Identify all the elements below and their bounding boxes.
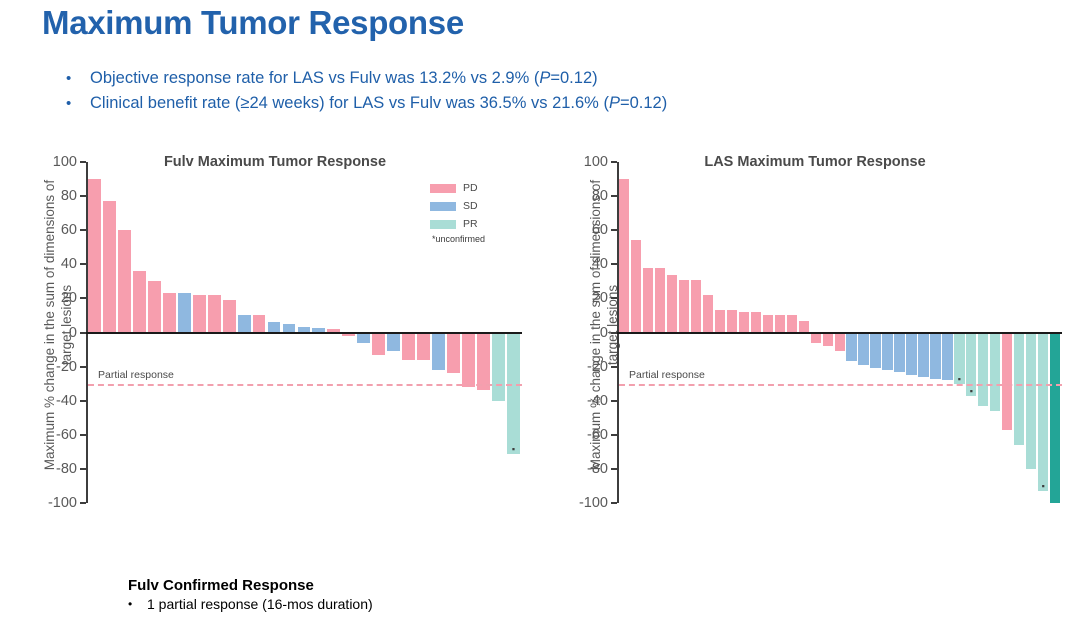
bar-pr	[990, 333, 1000, 411]
plot-area-las: ▪▪▪ 100806040200-20-40-60-80-100Partial …	[617, 162, 1062, 503]
bar-sd	[846, 333, 856, 362]
y-axis-tick-label: 80	[61, 188, 77, 204]
bar-pd	[88, 179, 101, 332]
legend-entry-label: PR	[463, 218, 478, 230]
y-axis-tick	[611, 263, 617, 265]
bar-pr	[1014, 333, 1024, 446]
y-axis-tick	[611, 502, 617, 504]
y-axis-tick	[80, 468, 86, 470]
y-axis-tick-label: 40	[61, 256, 77, 272]
y-axis-tick	[611, 161, 617, 163]
y-axis-tick-label: -60	[56, 427, 77, 443]
legend-entry-sd: SD	[430, 198, 485, 214]
zero-baseline	[86, 332, 522, 334]
bar-pd	[619, 179, 629, 332]
callout-list-item: • 1 partial response (16-mos duration)	[128, 595, 373, 614]
zero-baseline	[617, 332, 1062, 334]
y-axis-tick-label: 100	[584, 154, 608, 170]
legend-swatch-icon	[430, 220, 456, 229]
legend-unconfirmed-note: *unconfirmed	[432, 234, 485, 244]
bullet-marker-icon: •	[128, 595, 147, 614]
bar-pd	[691, 280, 701, 333]
bar-pd	[402, 333, 415, 360]
header-bullet-item: • Clinical benefit rate (≥24 weeks) for …	[66, 91, 1006, 116]
bar-sd	[238, 315, 251, 332]
bullet-marker-icon: •	[66, 91, 90, 116]
y-axis-tick	[611, 195, 617, 197]
bar-pd	[655, 268, 665, 333]
partial-response-threshold-label: Partial response	[98, 369, 174, 381]
bar-pd	[193, 295, 206, 333]
bar-pd	[631, 240, 641, 332]
bar-pd	[118, 230, 131, 332]
unconfirmed-asterisk-icon: ▪	[970, 388, 973, 394]
callout-item-text: 1 partial response (16-mos duration)	[147, 595, 373, 614]
y-axis-tick	[611, 468, 617, 470]
bar-pd	[775, 315, 785, 332]
chart-legend-fulv: PDSDPR*unconfirmed	[430, 180, 485, 244]
bar-pr: ▪	[1038, 333, 1048, 492]
bar-pr: ▪	[507, 333, 520, 454]
bar-pd	[751, 312, 761, 332]
bar-pd	[1002, 333, 1012, 430]
bar-pr	[1026, 333, 1036, 469]
y-axis-tick-label: -40	[587, 393, 608, 409]
y-axis-tick	[80, 161, 86, 163]
bar-sd	[387, 333, 400, 352]
bar-pd	[133, 271, 146, 332]
bar-pr	[492, 333, 505, 401]
y-axis-tick	[80, 434, 86, 436]
bar-pd	[208, 295, 221, 333]
y-axis-tick	[80, 297, 86, 299]
y-axis-tick-label: 40	[592, 256, 608, 272]
unconfirmed-asterisk-icon: ▪	[958, 376, 961, 382]
y-axis-tick-label: -100	[579, 495, 608, 511]
y-axis-tick	[80, 229, 86, 231]
y-axis-tick-label: 60	[61, 222, 77, 238]
legend-swatch-icon	[430, 202, 456, 211]
y-axis-tick	[611, 434, 617, 436]
y-axis-tick-label: 80	[592, 188, 608, 204]
y-axis-tick-label: -20	[56, 359, 77, 375]
bar-pd	[477, 333, 490, 391]
partial-response-threshold-line	[88, 384, 522, 386]
bar-pd	[823, 333, 833, 347]
header-bullet-item: • Objective response rate for LAS vs Ful…	[66, 66, 1006, 91]
bar-pd	[643, 268, 653, 333]
bar-pd	[447, 333, 460, 374]
bar-sd	[178, 293, 191, 332]
y-axis-tick	[80, 366, 86, 368]
partial-response-threshold-label: Partial response	[629, 369, 705, 381]
y-axis-tick-label: 0	[600, 325, 608, 341]
callout-fulv: Fulv Confirmed Response • 1 partial resp…	[128, 576, 373, 614]
bar-pd	[835, 333, 845, 352]
partial-response-threshold-line	[619, 384, 1062, 386]
y-axis-tick	[611, 297, 617, 299]
bar-sd	[858, 333, 868, 365]
bar-sd	[906, 333, 916, 376]
bar-pd	[703, 295, 713, 333]
y-axis-tick	[611, 229, 617, 231]
bar-pd	[372, 333, 385, 355]
bar-pd	[253, 315, 266, 332]
bar-pd	[417, 333, 430, 360]
bar-sd	[918, 333, 928, 377]
legend-entry-label: PD	[463, 182, 478, 194]
y-axis-tick-label: 0	[69, 325, 77, 341]
bar-pr: ▪	[966, 333, 976, 396]
y-axis-tick	[80, 195, 86, 197]
y-axis-tick	[80, 263, 86, 265]
legend-swatch-icon	[430, 184, 456, 193]
bar-pd	[223, 300, 236, 332]
y-axis-tick	[80, 502, 86, 504]
bar-pd	[148, 281, 161, 332]
y-axis-tick-label: 60	[592, 222, 608, 238]
bar-cr	[1050, 333, 1060, 504]
chart-panel-las: LAS Maximum Tumor Response Maximum % cha…	[540, 148, 1080, 533]
y-axis-tick	[80, 400, 86, 402]
bar-sd	[870, 333, 880, 369]
y-axis-tick-label: -40	[56, 393, 77, 409]
bar-pd	[679, 280, 689, 333]
bar-pd	[715, 310, 725, 332]
unconfirmed-asterisk-icon: ▪	[512, 446, 515, 452]
callout-heading: Fulv Confirmed Response	[128, 576, 373, 595]
bar-pr: ▪	[954, 333, 964, 384]
bar-pd	[103, 201, 116, 332]
bar-pd	[787, 315, 797, 332]
page-title: Maximum Tumor Response	[42, 4, 464, 42]
y-axis-tick-label: -80	[587, 461, 608, 477]
y-axis-tick-label: -60	[587, 427, 608, 443]
bar-pd	[811, 333, 821, 343]
header-bullet-list: • Objective response rate for LAS vs Ful…	[66, 66, 1006, 116]
y-axis-tick-label: 20	[592, 290, 608, 306]
y-axis-tick-label: -80	[56, 461, 77, 477]
bar-pd	[739, 312, 749, 332]
bar-pd	[727, 310, 737, 332]
bar-pd	[163, 293, 176, 332]
bar-sd	[942, 333, 952, 381]
y-axis-tick-label: 20	[61, 290, 77, 306]
bar-sd	[882, 333, 892, 371]
y-axis-tick-label: -100	[48, 495, 77, 511]
bullet-marker-icon: •	[66, 66, 90, 91]
y-axis-tick-label: -20	[587, 359, 608, 375]
bar-sd	[894, 333, 904, 372]
header-bullet-text: Clinical benefit rate (≥24 weeks) for LA…	[90, 91, 1006, 116]
header-bullet-text: Objective response rate for LAS vs Fulv …	[90, 66, 1006, 91]
legend-entry-pd: PD	[430, 180, 485, 196]
y-axis-tick	[611, 366, 617, 368]
bar-pd	[667, 275, 677, 333]
bar-sd	[930, 333, 940, 379]
bar-pd	[462, 333, 475, 388]
y-axis-tick-label: 100	[53, 154, 77, 170]
bar-pr	[978, 333, 988, 406]
unconfirmed-asterisk-icon: ▪	[1042, 483, 1045, 489]
legend-entry-pr: PR	[430, 216, 485, 232]
legend-entry-label: SD	[463, 200, 478, 212]
bar-sd	[432, 333, 445, 371]
y-axis-tick	[611, 400, 617, 402]
bar-pd	[763, 315, 773, 332]
chart-panel-fulv: Fulv Maximum Tumor Response Maximum % ch…	[0, 148, 540, 533]
bar-sd	[357, 333, 370, 343]
